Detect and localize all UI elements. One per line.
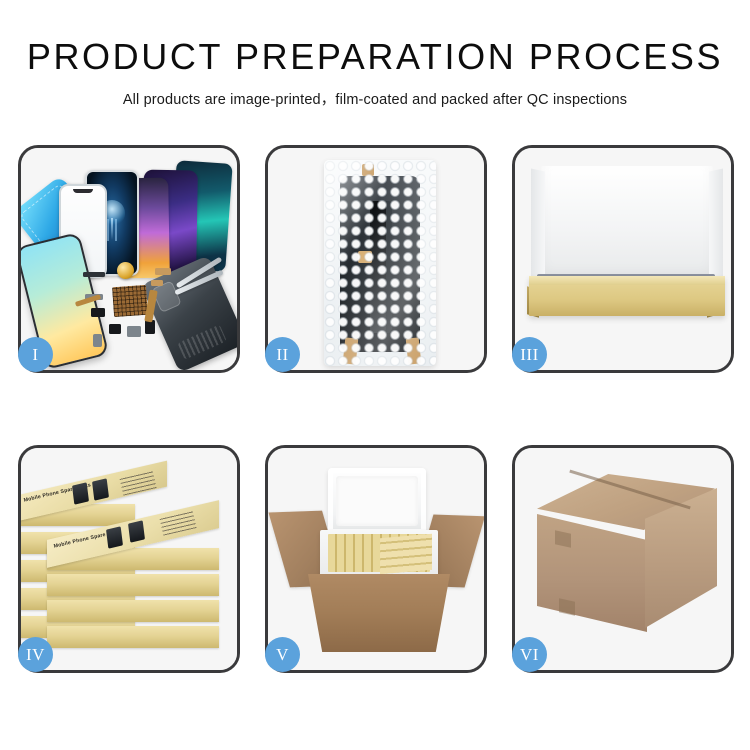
box-print-phone-image [128,520,145,542]
panel-2-image [268,148,484,370]
small-part [91,308,105,317]
scene-sealed-carton [515,448,731,670]
header: PRODUCT PREPARATION PROCESS All products… [0,0,750,109]
panel-3-image [515,148,731,370]
scene-stacked-boxes: Mobile Phone Spare Parts Mobile Phone Sp… [21,448,237,670]
plastic-sheen [324,160,436,366]
process-step-panel-3[interactable]: III [512,145,734,373]
process-step-panel-5[interactable]: V [265,445,487,673]
step-badge-1: I [18,337,53,372]
page-title: PRODUCT PREPARATION PROCESS [0,38,750,76]
bubble-wrap-bag [324,160,436,366]
process-step-panel-4[interactable]: Mobile Phone Spare Parts Mobile Phone Sp… [18,445,240,673]
small-part [127,326,141,337]
page-subtitle: All products are image-printed，film-coat… [0,88,750,109]
kraft-box [47,574,219,596]
process-step-panel-1[interactable]: I [18,145,240,373]
kraft-box [47,626,219,648]
process-step-panel-6[interactable]: VI [512,445,734,673]
box-print-phone-image [72,482,89,504]
box-lip [529,276,725,285]
step-badge-5: V [265,637,300,672]
kraft-box [47,600,219,622]
scene-components-and-phones [21,148,237,370]
carton-body [308,574,450,652]
process-step-panel-2[interactable]: II [265,145,487,373]
step-badge-4: IV [18,637,53,672]
panel-1-image [21,148,237,370]
small-part [93,334,102,347]
box-print-phone-image [92,478,109,500]
white-foam-lid [541,166,713,282]
small-part [151,280,163,286]
chip-board [112,285,148,317]
box-print-phone-image [106,526,123,548]
scene-open-kraft-box [515,148,731,370]
scene-carton-with-styrofoam [268,448,484,670]
styrofoam-lid [328,468,426,534]
notch-shape [73,189,93,193]
step-badge-2: II [265,337,300,372]
small-part [83,272,105,277]
step-badge-6: VI [512,637,547,672]
carton-tape-patch [559,598,575,615]
yellow-boxes-stack [380,534,432,575]
small-part [109,324,121,334]
panel-4-image: Mobile Phone Spare Parts Mobile Phone Sp… [21,448,237,670]
panel-6-image [515,448,731,670]
scene-bubble-wrapped-part [268,148,484,370]
gold-component [117,262,134,279]
step-badge-3: III [512,337,547,372]
panel-5-image [268,448,484,670]
small-part [155,268,171,275]
process-step-grid: I II [18,145,735,673]
kraft-box-body [529,276,725,316]
carton-front-face [537,514,647,632]
